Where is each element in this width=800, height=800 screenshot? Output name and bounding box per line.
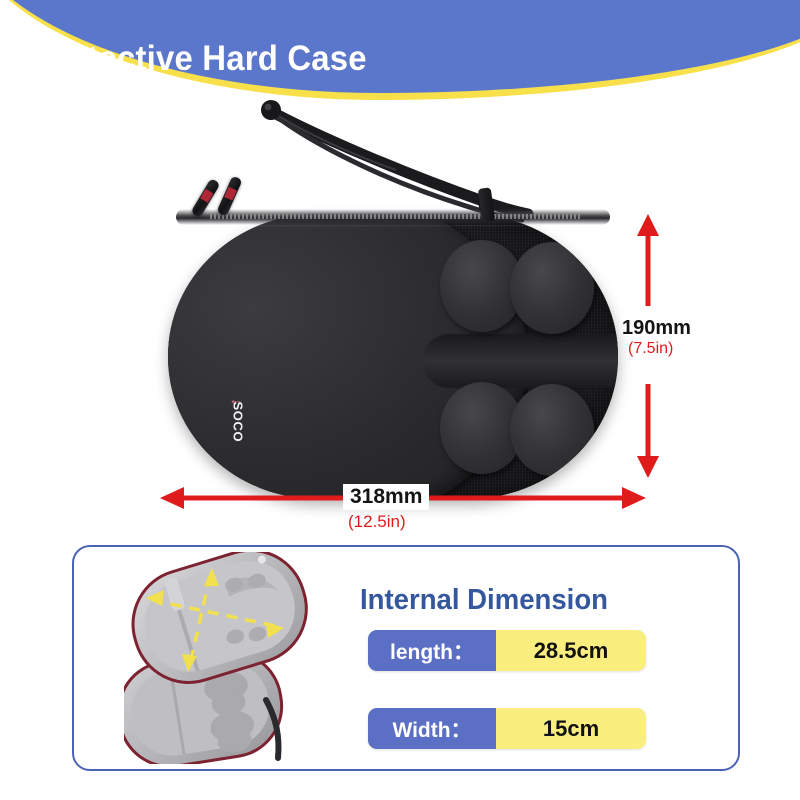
product-photo-main: ↓ SOCO [0,96,660,496]
page-title: Protective Hard Case [32,39,367,79]
spec-row-length: length： 28.5cm [368,630,646,671]
dimension-width-mm: 318mm [343,484,429,510]
spec-row-width: Width： 15cm [368,708,646,749]
brand-logo-text: SOCO [231,402,246,454]
dimension-label-height: 190mm (7.5in) [622,317,792,359]
spec-value-width: 15cm [496,708,646,749]
dimension-height-mm: 190mm [622,317,792,339]
brand-logo: ↓ SOCO [228,396,246,478]
header-banner: Protective Hard Case [0,0,800,100]
product-photo-open-case [124,552,324,764]
spec-value-length: 28.5cm [496,630,646,671]
spec-label-width: Width： [368,708,496,749]
case-earcup-bumps-top [440,240,610,336]
internal-dimension-heading: Internal Dimension [360,584,608,617]
case-headband-channel [423,334,618,388]
dimension-width-inches: (12.5in) [348,512,406,532]
case-earcup-bumps-bottom [440,382,610,478]
zipper-teeth [210,214,580,219]
dimension-height-inches: (7.5in) [622,339,792,359]
carry-strap-icon [150,96,570,226]
spec-label-length: length： [368,630,496,671]
